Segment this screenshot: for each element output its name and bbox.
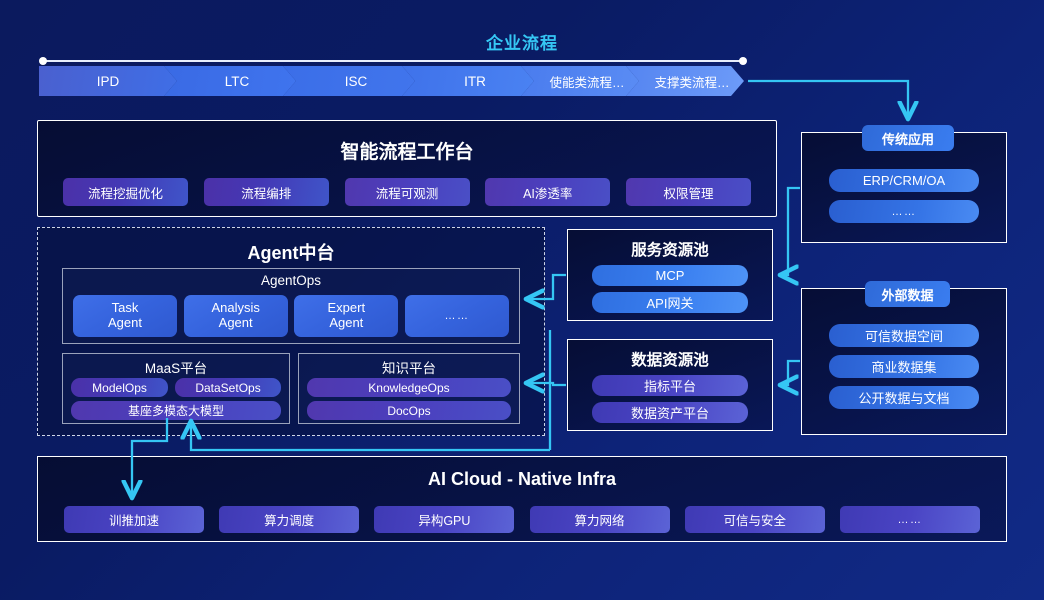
- legacy-apps-title: 传统应用: [862, 125, 954, 151]
- chip-label: 训推加速: [109, 510, 159, 529]
- data-pool-title: 数据资源池: [568, 348, 772, 370]
- knowledge-platform-box: 知识平台 KnowledgeOps DocOps: [298, 353, 520, 424]
- external-data-chip-public[interactable]: 公开数据与文档: [829, 386, 979, 409]
- workbench-chip-orchestration[interactable]: 流程编排: [204, 178, 329, 206]
- infra-panel: AI Cloud - Native Infra 训推加速 算力调度 异构GPU …: [37, 456, 1007, 542]
- service-pool-chip-mcp[interactable]: MCP: [592, 265, 748, 286]
- knowledge-chip-docops[interactable]: DocOps: [307, 401, 511, 420]
- process-step-label: 支撑类流程…: [654, 72, 729, 91]
- process-chain: IPD LTC ISC ITR 使能类流程… 支撑类流程…: [39, 66, 731, 96]
- agent-card-line1: ……: [444, 310, 469, 322]
- chip-label: ModelOps: [92, 381, 147, 395]
- process-step-label: IPD: [97, 74, 120, 89]
- infra-title: AI Cloud - Native Infra: [38, 469, 1006, 490]
- infra-chip-compute-network[interactable]: 算力网络: [530, 506, 670, 533]
- process-step-label: ITR: [464, 74, 486, 89]
- agent-card-line1: Expert: [328, 301, 366, 316]
- process-step-ipd[interactable]: IPD: [39, 66, 177, 96]
- chip-label: 算力调度: [264, 510, 314, 529]
- wire-legacy-apps-to-service-pool: [781, 188, 800, 275]
- external-data-chip-trusted-space[interactable]: 可信数据空间: [829, 324, 979, 347]
- chip-label: ERP/CRM/OA: [863, 173, 945, 188]
- knowledge-title: 知识平台: [299, 357, 519, 377]
- chip-label: 基座多模态大模型: [128, 402, 224, 419]
- service-pool-title: 服务资源池: [568, 238, 772, 260]
- agent-card-task[interactable]: Task Agent: [73, 295, 177, 337]
- chip-label: KnowledgeOps: [368, 381, 449, 395]
- agentops-title: AgentOps: [63, 273, 519, 288]
- maas-title: MaaS平台: [63, 357, 289, 377]
- chip-label: ……: [897, 514, 922, 526]
- agentops-box: AgentOps Task Agent Analysis Agent Exper…: [62, 268, 520, 344]
- chip-label: AI渗透率: [523, 183, 572, 202]
- chip-label: 可信与安全: [723, 510, 786, 529]
- agent-card-more[interactable]: ……: [405, 295, 509, 337]
- data-pool-chip-data-asset[interactable]: 数据资产平台: [592, 402, 748, 423]
- chip-label: 流程可观测: [376, 183, 439, 202]
- rail-line: [43, 60, 743, 62]
- external-data-panel: 可信数据空间 商业数据集 公开数据与文档: [801, 288, 1007, 435]
- chip-label: API网关: [647, 293, 694, 312]
- infra-chip-more[interactable]: ……: [840, 506, 980, 533]
- workbench-chip-permission[interactable]: 权限管理: [626, 178, 751, 206]
- chip-label: 流程编排: [241, 183, 291, 202]
- external-data-title-label: 外部数据: [881, 285, 933, 304]
- agent-card-analysis[interactable]: Analysis Agent: [184, 295, 288, 337]
- legacy-apps-chip-erp[interactable]: ERP/CRM/OA: [829, 169, 979, 192]
- chip-label: 可信数据空间: [865, 326, 943, 345]
- process-step-supporting[interactable]: 支撑类流程…: [626, 66, 744, 96]
- diagram-canvas: 企业流程 IPD LTC ISC ITR 使能类流程… 支撑类流程… 智能流程工…: [0, 0, 1044, 600]
- process-step-isc[interactable]: ISC: [283, 66, 415, 96]
- chip-label: 算力网络: [575, 510, 625, 529]
- wire-chain-to-legacy-apps: [748, 81, 908, 118]
- agent-hub-title: Agent中台: [38, 239, 544, 265]
- chip-label: 权限管理: [663, 183, 713, 202]
- knowledge-chip-knowledgeops[interactable]: KnowledgeOps: [307, 378, 511, 397]
- chip-label: 数据资产平台: [631, 403, 709, 422]
- wire-external-data-to-data-pool: [781, 361, 800, 385]
- maas-chip-datasetops[interactable]: DataSetOps: [175, 378, 281, 397]
- workbench-chip-observability[interactable]: 流程可观测: [345, 178, 470, 206]
- process-step-itr[interactable]: ITR: [402, 66, 534, 96]
- chip-label: 公开数据与文档: [858, 388, 949, 407]
- chip-label: ……: [892, 206, 917, 218]
- legacy-apps-title-label: 传统应用: [882, 129, 934, 148]
- workbench-panel: 智能流程工作台 流程挖掘优化 流程编排 流程可观测 AI渗透率 权限管理: [37, 120, 777, 217]
- data-pool-panel: 数据资源池 指标平台 数据资产平台: [567, 339, 773, 431]
- process-step-ltc[interactable]: LTC: [164, 66, 296, 96]
- agent-card-line1: Task: [112, 301, 139, 316]
- agent-card-line2: Agent: [329, 316, 363, 331]
- infra-chip-training-accel[interactable]: 训推加速: [64, 506, 204, 533]
- chip-label: 指标平台: [644, 376, 696, 395]
- agent-card-line1: Analysis: [211, 301, 259, 316]
- workbench-chip-process-mining[interactable]: 流程挖掘优化: [63, 178, 188, 206]
- service-pool-panel: 服务资源池 MCP API网关: [567, 229, 773, 321]
- data-pool-chip-metrics[interactable]: 指标平台: [592, 375, 748, 396]
- agent-hub-panel: Agent中台 AgentOps Task Agent Analysis Age…: [37, 227, 545, 436]
- maas-chip-foundation-model[interactable]: 基座多模态大模型: [71, 401, 281, 420]
- infra-chip-trust-security[interactable]: 可信与安全: [685, 506, 825, 533]
- external-data-title: 外部数据: [865, 281, 950, 307]
- infra-chip-compute-scheduling[interactable]: 算力调度: [219, 506, 359, 533]
- workbench-title: 智能流程工作台: [38, 137, 776, 164]
- process-step-enabling[interactable]: 使能类流程…: [521, 66, 639, 96]
- chip-label: 异构GPU: [418, 510, 470, 529]
- service-pool-chip-api-gateway[interactable]: API网关: [592, 292, 748, 313]
- process-step-label: 使能类流程…: [549, 72, 624, 91]
- chip-label: DataSetOps: [195, 381, 260, 395]
- rail-dot-right: [739, 57, 747, 65]
- process-step-label: LTC: [225, 74, 250, 89]
- process-step-label: ISC: [345, 74, 368, 89]
- rail-dot-left: [39, 57, 47, 65]
- agent-card-line2: Agent: [108, 316, 142, 331]
- process-rail: [39, 59, 747, 62]
- workbench-chip-ai-penetration[interactable]: AI渗透率: [485, 178, 610, 206]
- external-data-chip-commercial[interactable]: 商业数据集: [829, 355, 979, 378]
- agent-card-line2: Agent: [219, 316, 253, 331]
- chip-label: DocOps: [387, 404, 430, 418]
- maas-platform-box: MaaS平台 ModelOps DataSetOps 基座多模态大模型: [62, 353, 290, 424]
- maas-chip-modelops[interactable]: ModelOps: [71, 378, 168, 397]
- agent-card-expert[interactable]: Expert Agent: [294, 295, 398, 337]
- chip-label: 流程挖掘优化: [88, 183, 163, 202]
- legacy-apps-chip-more[interactable]: ……: [829, 200, 979, 223]
- chip-label: MCP: [656, 268, 685, 283]
- infra-chip-heterogeneous-gpu[interactable]: 异构GPU: [374, 506, 514, 533]
- page-title: 企业流程: [0, 29, 1044, 54]
- chip-label: 商业数据集: [871, 357, 936, 376]
